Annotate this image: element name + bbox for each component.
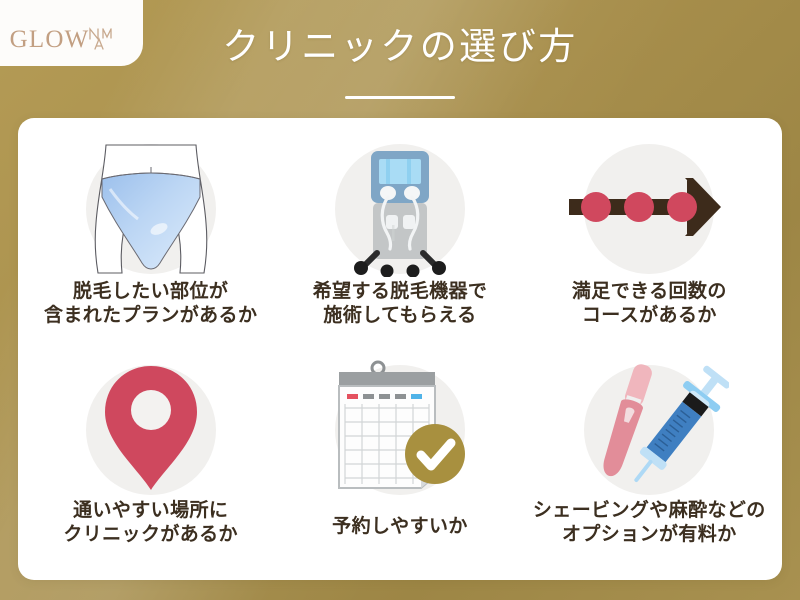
point-label: 脱毛したい部位が 含まれたプランがあるか: [44, 280, 257, 329]
point-machine: 希望する脱毛機器で 施術してもらえる: [275, 128, 524, 351]
laser-machine-icon: [335, 137, 465, 282]
icon-container: [571, 357, 727, 503]
points-card: 脱毛したい部位が 含まれたプランがあるか: [18, 118, 782, 580]
points-grid: 脱毛したい部位が 含まれたプランがあるか: [26, 128, 774, 574]
icon-container: [322, 134, 478, 284]
point-label: 通いやすい場所に クリニックがあるか: [63, 499, 238, 548]
point-options: シェービングや麻酔などの オプションが有料か: [525, 351, 774, 574]
icon-container: [73, 134, 229, 284]
page-title: クリニックの選び方: [0, 26, 800, 70]
title-divider: [345, 96, 455, 99]
icon-container: [571, 134, 727, 284]
point-location: 通いやすい場所に クリニックがあるか: [26, 351, 275, 574]
razor-syringe-icon: [569, 358, 729, 503]
progress-arrow-icon: [569, 162, 729, 257]
calendar-check-icon: [325, 358, 475, 503]
icon-container: [73, 357, 229, 503]
point-label: 予約しやすいか: [332, 515, 468, 539]
icon-container: [322, 357, 478, 503]
point-body-area: 脱毛したい部位が 含まれたプランがあるか: [26, 128, 275, 351]
point-label: 希望する脱毛機器で 施術してもらえる: [313, 280, 488, 329]
point-course-count: 満足できる回数の コースがあるか: [525, 128, 774, 351]
bikini-line-icon: [76, 137, 226, 282]
map-pin-icon: [97, 362, 205, 499]
point-label: 満足できる回数の コースがあるか: [572, 280, 727, 329]
point-booking: 予約しやすいか: [275, 351, 524, 574]
slide-root: GLOW クリニックの選び方: [0, 0, 800, 600]
point-label: シェービングや麻酔などの オプションが有料か: [533, 499, 766, 548]
